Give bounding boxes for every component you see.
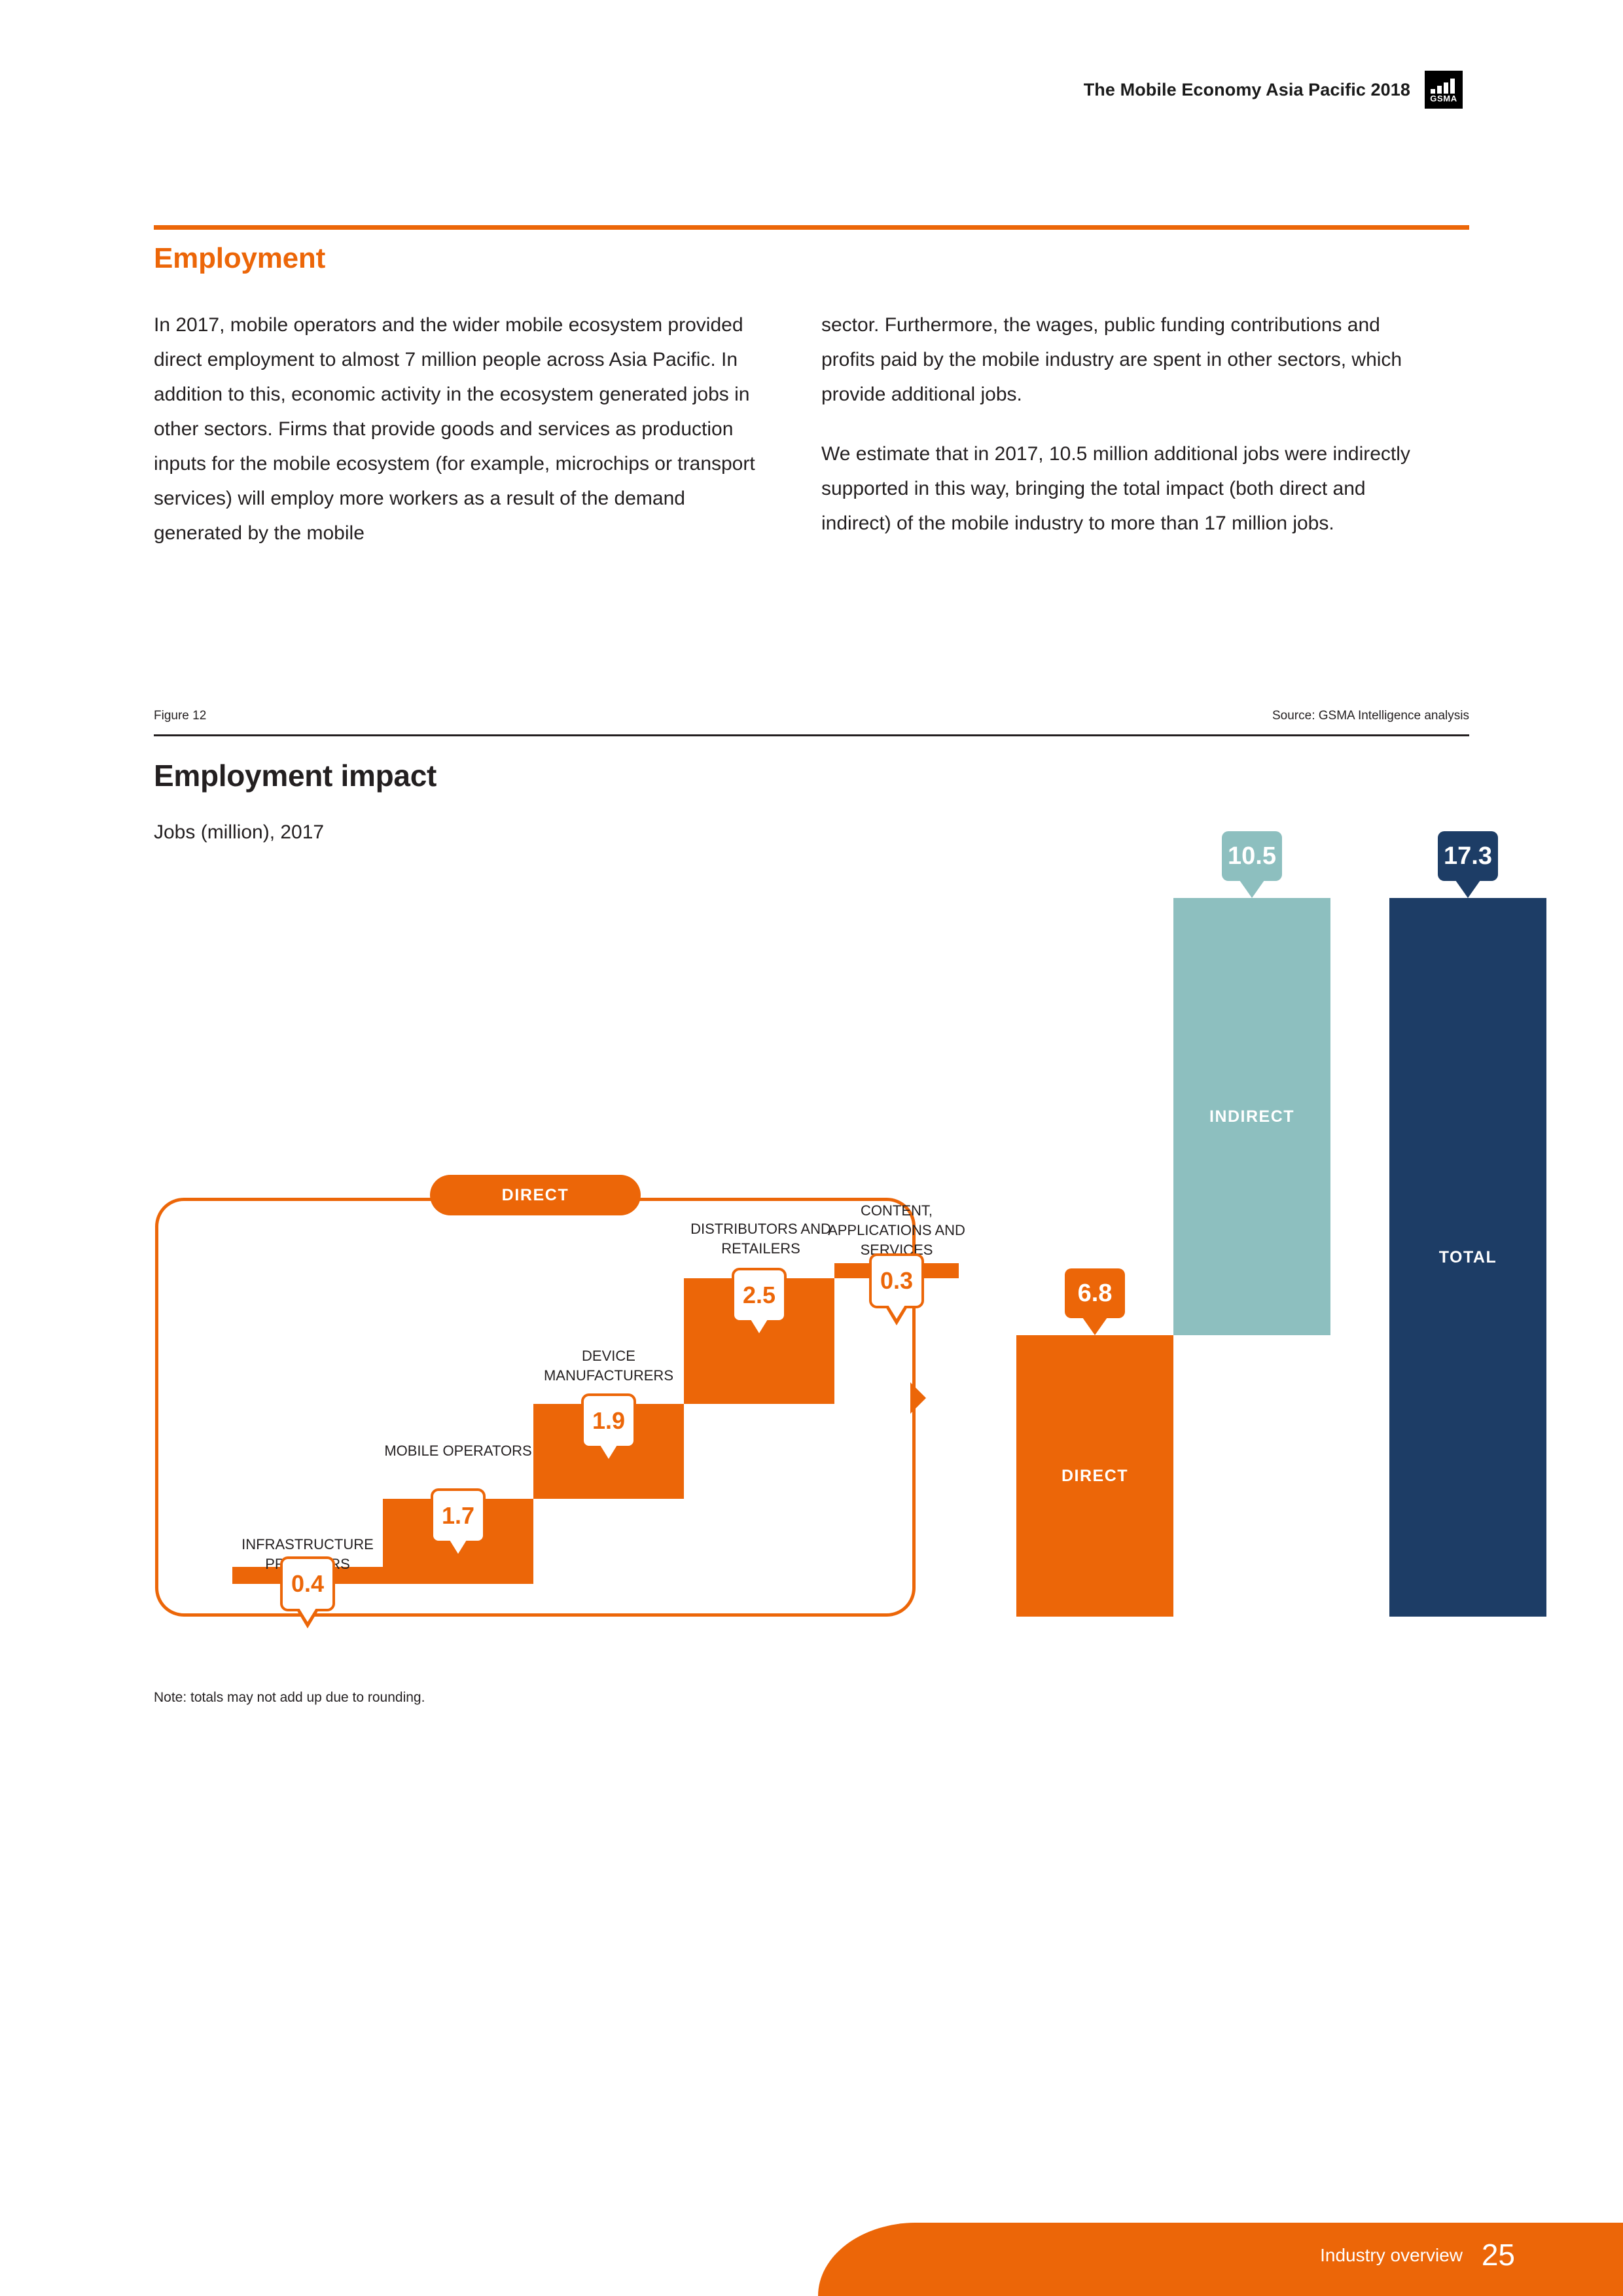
summary-bar-label-indirect: INDIRECT (1209, 1107, 1294, 1126)
summary-value-total: 17.3 (1438, 831, 1498, 881)
employment-impact-chart: DIRECT INFRASTRUCTURE PROVIDERS 0.4 MOBI… (154, 877, 1469, 1656)
waterfall-label-device-manufacturers: DEVICE MANUFACTURERS (520, 1346, 697, 1386)
section-top-rule (154, 225, 1469, 230)
figure-source: Source: GSMA Intelligence analysis (1272, 709, 1469, 723)
summary-value-text-direct: 6.8 (1078, 1280, 1113, 1308)
summary-bar-indirect: INDIRECT (1173, 898, 1330, 1335)
body-column-left: In 2017, mobile operators and the wider … (154, 308, 766, 550)
paragraph: We estimate that in 2017, 10.5 million a… (821, 437, 1433, 541)
summary-bar-total: TOTAL (1389, 898, 1546, 1617)
waterfall-value-mobile-operators: 1.7 (431, 1488, 486, 1543)
page-title: Employment (154, 242, 325, 275)
summary-value-indirect: 10.5 (1222, 831, 1282, 881)
summary-value-direct: 6.8 (1065, 1268, 1125, 1318)
flow-arrow-icon (910, 1382, 926, 1414)
summary-bar-direct: DIRECT (1016, 1335, 1173, 1617)
waterfall-value-distributors-retailers: 2.5 (732, 1268, 787, 1323)
figure-rule (154, 734, 1469, 736)
summary-bar-label-total: TOTAL (1439, 1248, 1497, 1267)
page-content: Employment In 2017, mobile operators and… (154, 0, 1469, 2296)
body-column-right: sector. Furthermore, the wages, public f… (821, 308, 1433, 541)
waterfall-value-infrastructure-providers: 0.4 (280, 1556, 335, 1611)
footer-page-number: 25 (1482, 2237, 1515, 2272)
paragraph: sector. Furthermore, the wages, public f… (821, 308, 1433, 412)
waterfall-label-content-applications-services: CONTENT, APPLICATIONS AND SERVICES (808, 1201, 985, 1260)
waterfall-value-device-manufacturers: 1.9 (581, 1393, 636, 1448)
chart-note: Note: totals may not add up due to round… (154, 1690, 425, 1706)
figure-title: Employment impact (154, 758, 437, 793)
waterfall-value-content-applications-services: 0.3 (869, 1253, 924, 1308)
figure-meta: Figure 12 Source: GSMA Intelligence anal… (154, 709, 1469, 723)
figure-subtitle: Jobs (million), 2017 (154, 821, 324, 844)
figure-number: Figure 12 (154, 709, 206, 723)
summary-value-text-total: 17.3 (1444, 842, 1492, 870)
waterfall-label-mobile-operators: MOBILE OPERATORS (373, 1441, 543, 1461)
summary-value-text-indirect: 10.5 (1228, 842, 1276, 870)
summary-bar-label-direct: DIRECT (1061, 1467, 1128, 1486)
direct-group-pill: DIRECT (430, 1175, 641, 1215)
paragraph: In 2017, mobile operators and the wider … (154, 308, 766, 550)
